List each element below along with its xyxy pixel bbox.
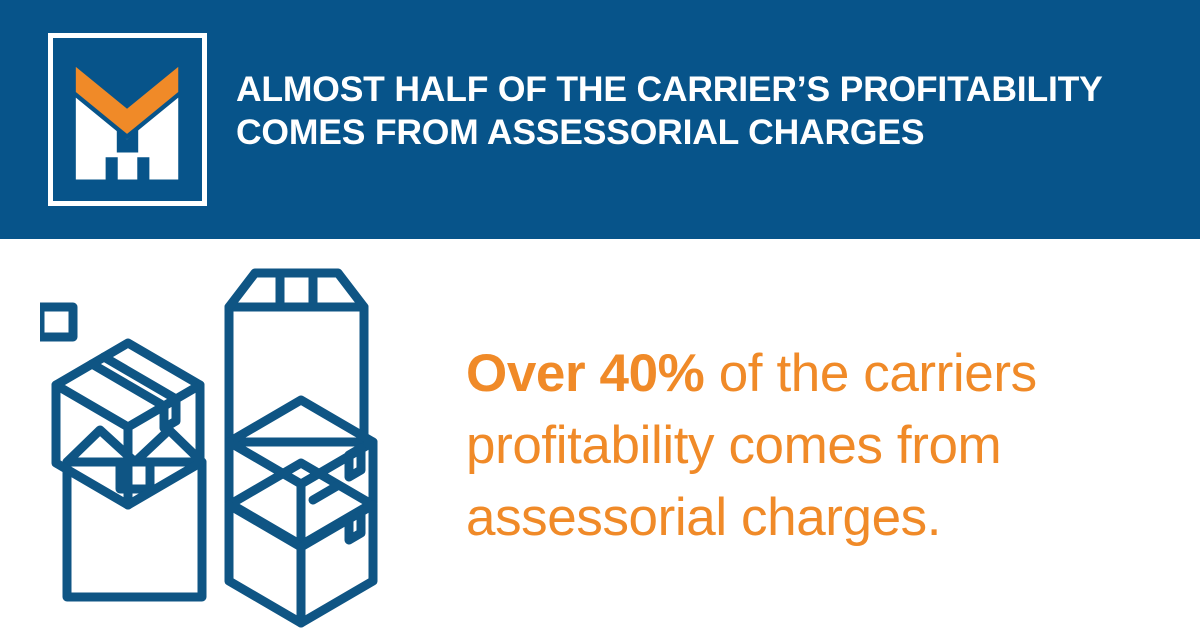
statement-emphasis: Over 40% [466,344,704,403]
box-bottom-left [67,430,202,597]
statement-text: Over 40% of the carriers profitability c… [466,338,1166,554]
page-title-line-1: ALMOST HALF OF THE CARRIER’S PROFITABILI… [236,68,1176,111]
infographic-root: ALMOST HALF OF THE CARRIER’S PROFITABILI… [0,0,1200,629]
header-banner: ALMOST HALF OF THE CARRIER’S PROFITABILI… [0,0,1200,239]
content-area: Over 40% of the carriers profitability c… [0,239,1200,629]
shipping-boxes-icon [40,250,440,630]
page-title: ALMOST HALF OF THE CARRIER’S PROFITABILI… [236,68,1176,154]
box-upper-left-isometric [56,343,200,505]
m-monogram-icon [60,45,195,194]
boxes-illustration [40,250,440,630]
logo-inner [60,45,195,194]
brand-logo [48,33,207,206]
page-title-line-2: COMES FROM ASSESSORIAL CHARGES [236,111,1176,154]
